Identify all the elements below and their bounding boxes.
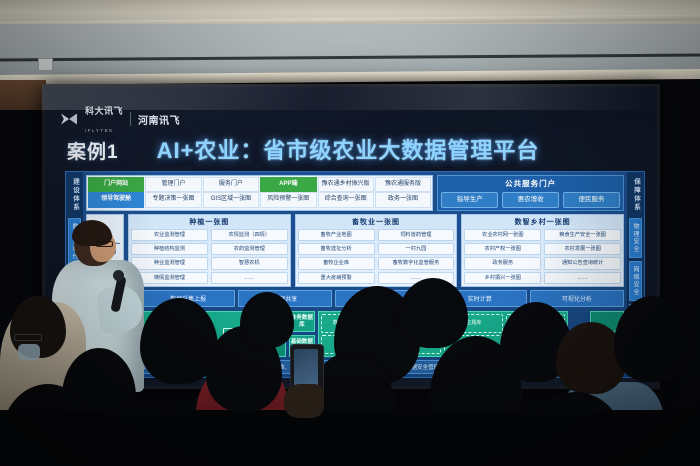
map-group-columns: 畜牧产业地图 畜牧选址分析 畜牧企业库 重大疫病预警 饲料兽药管理 一村九园 畜… <box>298 229 455 284</box>
right-rail-title: 保障体系 <box>631 175 641 215</box>
portal-cell: 综合查询一张图 <box>318 192 374 207</box>
map-item: 乡村振兴一张图 <box>464 272 541 284</box>
map-item: 一村九园 <box>378 243 455 255</box>
brand-text-block: 科大讯飞 iFLYTEK <box>85 101 123 137</box>
portal-cell: 风险预警一张图 <box>260 192 316 207</box>
map-group-column: 农情监测（四情） 农药监测管理 智慧农机 …… <box>211 229 288 284</box>
audience-head <box>614 296 690 382</box>
portal-row-2: 领导驾驶舱 专题决策一张图 GIS区域一张图 风险预警一张图 综合查询一张图 政… <box>88 192 431 207</box>
portal-cell: 政务一张图 <box>375 192 431 207</box>
map-group-column: 农业农村网一张图 农村产权一张图 政务服务 乡村振兴一张图 <box>464 229 541 284</box>
map-group-column: 饲料兽药管理 一村九园 畜牧数字化监管服务 …… <box>378 229 455 284</box>
map-group-digital-village: 数智乡村一张图 农业农村网一张图 农村产权一张图 政务服务 乡村振兴一张图 粮食… <box>461 214 624 287</box>
map-item: …… <box>544 272 621 284</box>
iflytek-logo-icon <box>61 113 78 126</box>
map-item: 智慧农机 <box>211 257 288 269</box>
back-wall <box>0 24 700 76</box>
map-item: 粮食生产安全一张图 <box>544 229 621 241</box>
map-item: 重大疫病预警 <box>298 272 375 284</box>
foreground-dark <box>0 410 700 466</box>
hand-holding-phone <box>284 384 324 418</box>
face-mask <box>18 344 40 360</box>
right-rail-chip: 网络安全 <box>629 261 642 301</box>
audience-head <box>240 292 294 348</box>
portal-cell: 领导驾驶舱 <box>88 192 144 207</box>
screenshot-root: 科大讯飞 iFLYTEK 河南讯飞 案例1 AI+农业：省市级农业大数据管理平台… <box>0 0 700 466</box>
map-group-column: 粮食生产安全一张图 农村发展一张图 通知公告查询统计 …… <box>544 229 621 284</box>
map-item: 通知公告查询统计 <box>544 257 621 269</box>
presenter-glasses <box>96 241 113 247</box>
map-group-title: 畜牧业一张图 <box>298 217 455 227</box>
map-item: 畜牧企业库 <box>298 257 375 269</box>
brand-logo: 科大讯飞 iFLYTEK 河南讯飞 <box>61 101 180 137</box>
portal-cell: 豫农通服务版 <box>375 177 431 192</box>
portal-cell: 服务门户 <box>203 177 259 192</box>
public-service-chip: 指导生产 <box>441 192 498 208</box>
map-group-planting: 种植一张图 农业监测管理 种植结构监测 种业监测管理 墒情监测管理 农情监测（四… <box>128 214 291 287</box>
audience <box>0 296 700 466</box>
map-item: 政务服务 <box>464 257 541 269</box>
map-item: 农药监测管理 <box>211 243 288 255</box>
portal-cell: 豫农通乡村振兴版 <box>318 177 374 192</box>
phone-screen <box>294 349 318 389</box>
map-item: 饲料兽药管理 <box>378 229 455 241</box>
brand-name-cn: 科大讯飞 <box>85 106 123 116</box>
wall-sensor-box <box>38 58 53 71</box>
sub-brand-name: 河南讯飞 <box>138 112 180 127</box>
microphone-head <box>113 270 124 281</box>
case-tag: 案例1 <box>67 137 119 164</box>
portal-cell: GIS区域一张图 <box>203 192 259 207</box>
portal-cell: 门户网站 <box>88 177 144 192</box>
public-service-chip: 惠农增收 <box>502 192 559 208</box>
portal-cell: 专题决策一张图 <box>145 192 201 207</box>
map-item: …… <box>211 272 288 284</box>
public-service-portal: 公共服务门户 指导生产 惠农增收 便民服务 <box>437 175 624 211</box>
public-service-portal-title: 公共服务门户 <box>441 178 620 189</box>
map-group-columns: 农业农村网一张图 农村产权一张图 政务服务 乡村振兴一张图 粮食生产安全一张图 … <box>464 229 621 284</box>
portal-band: 门户网站 管理门户 服务门户 APP端 豫农通乡村振兴版 豫农通服务版 领导驾驶… <box>86 175 624 211</box>
map-group-columns: 农业监测管理 种植结构监测 种业监测管理 墒情监测管理 农情监测（四情） 农药监… <box>131 229 288 284</box>
map-group-title: 种植一张图 <box>131 217 288 227</box>
map-item: 畜牧产业地图 <box>298 229 375 241</box>
public-service-chip: 便民服务 <box>563 192 620 208</box>
one-map-band: 决策分析一张图（表） 种植一张图 农业监测管理 种植结构监测 种业监测管理 墒情… <box>86 214 624 287</box>
left-rail-title: 建设体系 <box>70 175 80 215</box>
map-group-title: 数智乡村一张图 <box>464 217 621 227</box>
portal-cell: 管理门户 <box>145 177 201 192</box>
audience-glasses <box>14 334 42 341</box>
logo-divider <box>130 112 131 126</box>
map-item: 畜牧数字化监管服务 <box>378 257 455 269</box>
map-group-livestock: 畜牧业一张图 畜牧产业地图 畜牧选址分析 畜牧企业库 重大疫病预警 饲料兽药管理 <box>295 214 458 287</box>
map-item: 农业农村网一张图 <box>464 229 541 241</box>
slide-title-row: 案例1 AI+农业：省市级农业大数据管理平台 <box>67 133 539 165</box>
map-item: 农村发展一张图 <box>544 243 621 255</box>
map-item: 农村产权一张图 <box>464 243 541 255</box>
portal-row-1: 门户网站 管理门户 服务门户 APP端 豫农通乡村振兴版 豫农通服务版 <box>88 177 431 192</box>
map-item: 农情监测（四情） <box>211 229 288 241</box>
portal-matrix: 门户网站 管理门户 服务门户 APP端 豫农通乡村振兴版 豫农通服务版 领导驾驶… <box>86 175 433 211</box>
wall-wood-panel <box>0 80 46 110</box>
right-rail-chip: 物理安全 <box>629 218 642 258</box>
map-item: 畜牧选址分析 <box>298 243 375 255</box>
page-title: AI+农业：省市级农业大数据管理平台 <box>157 133 540 165</box>
public-service-chips: 指导生产 惠农增收 便民服务 <box>441 192 620 208</box>
map-group-column: 畜牧产业地图 畜牧选址分析 畜牧企业库 重大疫病预警 <box>298 229 375 284</box>
portal-cell: APP端 <box>260 177 316 192</box>
